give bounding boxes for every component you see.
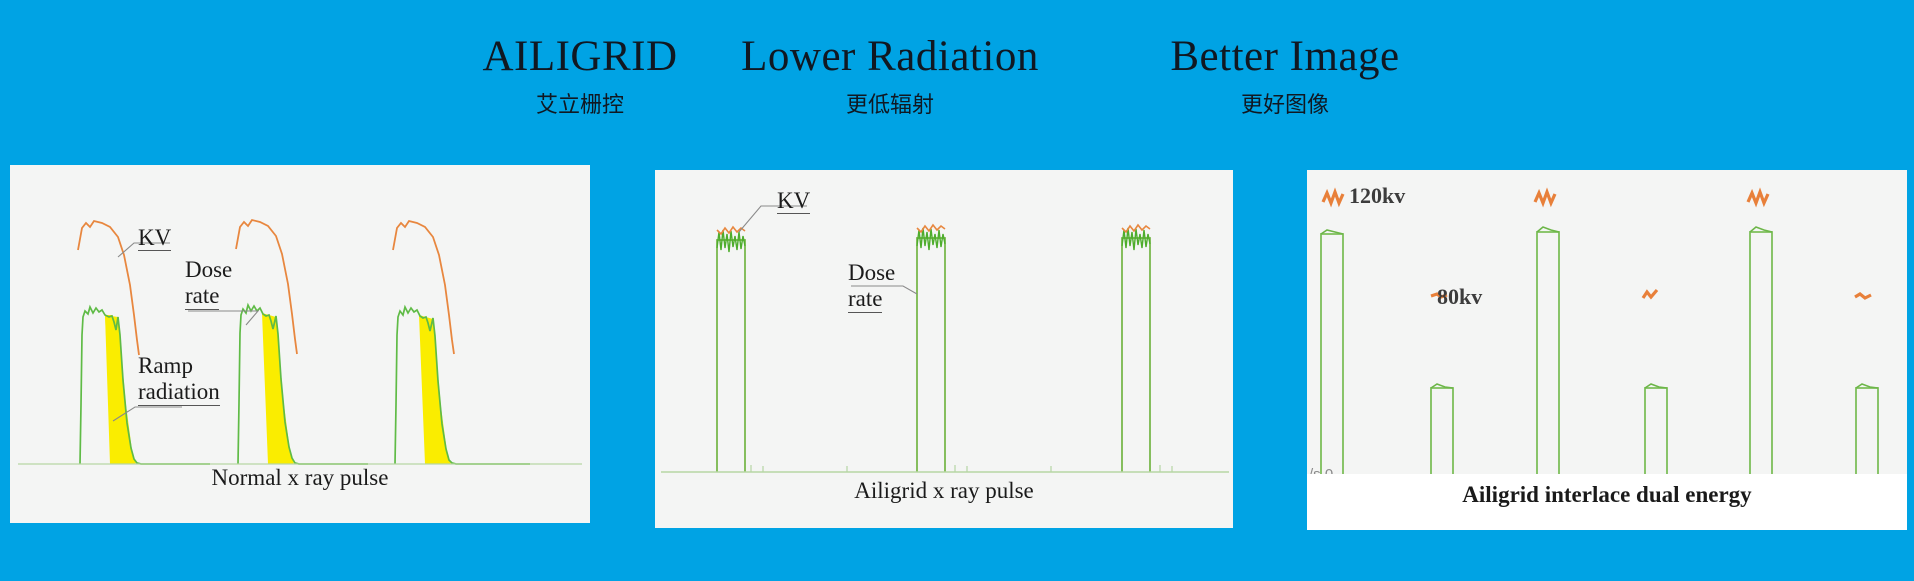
panel-caption-ailigrid: Ailigrid x ray pulse bbox=[655, 478, 1233, 504]
annotation-dose-rate-line-1: Dose bbox=[848, 260, 895, 286]
legend-80kv-label: 80kv bbox=[1437, 284, 1482, 310]
annotation-dose-rate-line-1: Dose bbox=[185, 257, 232, 283]
annotation-kv: KV bbox=[777, 188, 810, 214]
header-title-cn-2: 更好图像 bbox=[1085, 95, 1485, 117]
ailigrid-pulse-svg bbox=[655, 170, 1233, 528]
marker-80kv-series bbox=[1431, 290, 1871, 298]
header-group-better-image: Better Image 更好图像 bbox=[1085, 35, 1485, 117]
kv-series bbox=[717, 225, 1150, 234]
annotation-ramp-line-2: radiation bbox=[138, 379, 220, 406]
dose-rate-noise-tops bbox=[717, 228, 1150, 252]
header-title-en-1: Lower Radiation bbox=[680, 35, 1100, 78]
annotation-dose-rate-line-2: rate bbox=[848, 286, 882, 313]
annotation-ramp-line-1: Ramp bbox=[138, 353, 220, 379]
annotation-kv-text: KV bbox=[777, 188, 810, 214]
header: AILIGRID 艾立栅控 Lower Radiation 更低辐射 Bette… bbox=[0, 0, 1914, 140]
chart-panel-ailigrid-x-ray-pulse: KV Dose rate Ailigrid x ray pulse bbox=[655, 170, 1233, 528]
pulse-series bbox=[1321, 232, 1878, 488]
annotation-dose-rate: Dose rate bbox=[185, 257, 232, 310]
panel-caption-normal: Normal x ray pulse bbox=[10, 465, 590, 491]
annotation-dose-rate: Dose rate bbox=[848, 260, 895, 313]
annotation-dose-rate-line-2: rate bbox=[185, 283, 219, 310]
header-title-en-2: Better Image bbox=[1085, 35, 1485, 78]
plot-area-ailigrid-pulse bbox=[655, 170, 1233, 528]
dose-rate-series bbox=[717, 238, 1150, 472]
panel-caption-interlace: Ailigrid interlace dual energy bbox=[1307, 482, 1907, 508]
legend-120kv-label: 120kv bbox=[1349, 183, 1405, 209]
header-group-lower-radiation: Lower Radiation 更低辐射 bbox=[680, 35, 1100, 117]
header-title-cn-1: 更低辐射 bbox=[680, 95, 1100, 117]
chart-panel-interlace-dual-energy: 120kv 80kv /s 0 Ailigrid interlace dual … bbox=[1307, 170, 1907, 530]
pulse-top-caps bbox=[1321, 227, 1878, 388]
annotation-kv: KV bbox=[138, 225, 171, 251]
annotation-ramp-radiation: Ramp radiation bbox=[138, 353, 220, 406]
annotation-kv-text: KV bbox=[138, 225, 171, 251]
chart-panel-normal-x-ray-pulse: KV Dose rate Ramp radiation Normal x ray… bbox=[10, 165, 590, 523]
